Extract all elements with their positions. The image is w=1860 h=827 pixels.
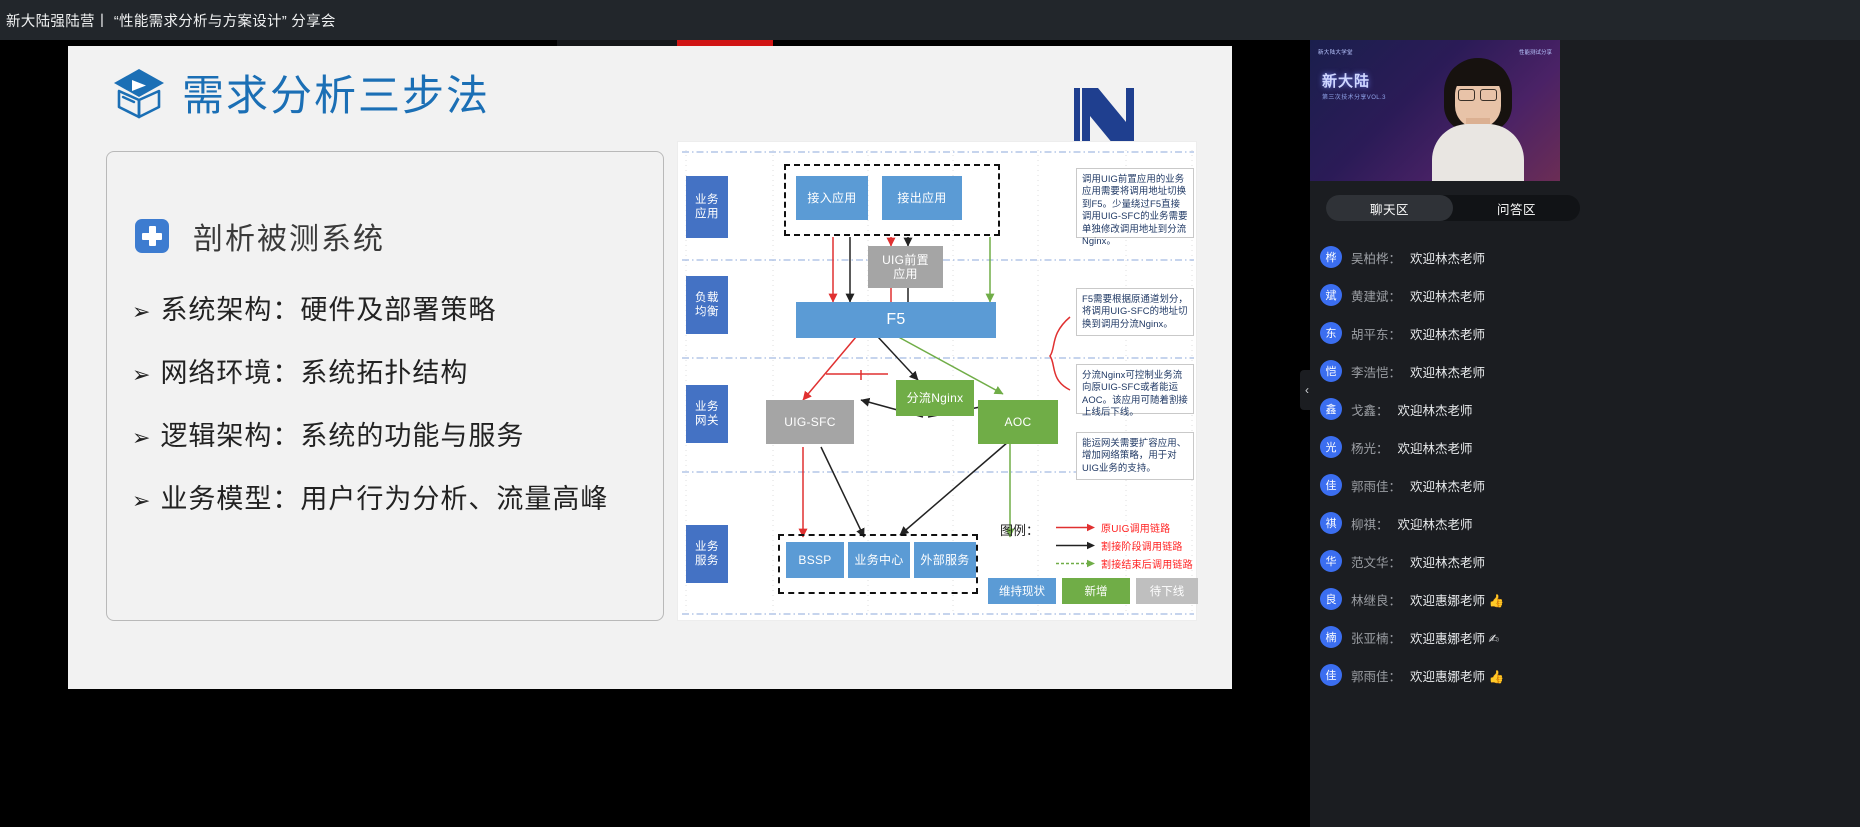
content-panel: 剖析被测系统 ➢ 系统架构：硬件及部署策略 ➢ 网络环境：系统拓扑结构 ➢ 逻辑… [106, 151, 664, 621]
legend-line-green-icon [1056, 559, 1096, 568]
annotation-4: 能运网关需要扩容应用、增加网络策略，用于对UIG业务的支持。 [1076, 432, 1194, 480]
list-item: ➢ 逻辑架构：系统的功能与服务 [132, 414, 663, 453]
lane-label-business-app: 业务应用 [686, 176, 728, 238]
legend-chip-keep: 维持现状 [988, 578, 1056, 604]
book-play-icon [112, 67, 166, 119]
lane-label-service: 业务服务 [686, 525, 728, 583]
list-item: 恺 李浩恺： 欢迎林杰老师 [1320, 352, 1590, 390]
presenter-video-tile[interactable]: 新大陆大学堂 性能测试分享 新大陆 第三次技术分享VOL.3 [1310, 40, 1560, 181]
node-f5: F5 [796, 302, 996, 338]
legend-row-cutover: 割接阶段调用链路 [1056, 538, 1183, 553]
bullet-text: 系统架构：硬件及部署策略 [160, 288, 496, 327]
tab-chat[interactable]: 聊天区 [1326, 195, 1453, 221]
bullet-text: 网络环境：系统拓扑结构 [160, 351, 468, 390]
list-item: 祺 柳祺： 欢迎林杰老师 [1320, 504, 1590, 542]
chat-sender: 范文华： [1351, 552, 1401, 571]
bullet-list: ➢ 系统架构：硬件及部署策略 ➢ 网络环境：系统拓扑结构 ➢ 逻辑架构：系统的功… [132, 288, 663, 516]
chat-text: 欢迎惠娜老师 ✍ [1410, 628, 1499, 647]
chat-text: 欢迎林杰老师 [1410, 248, 1485, 267]
annotation-1: 调用UIG前置应用的业务应用需要将调用地址切换到F5。少量绕过F5直接调用UIG… [1076, 168, 1194, 238]
legend-title: 图例： [1000, 520, 1039, 539]
tab-qa[interactable]: 问答区 [1453, 195, 1580, 221]
legend-line-black-icon [1056, 541, 1096, 550]
chat-sender: 柳祺： [1351, 514, 1389, 533]
panel-heading: 剖析被测系统 [193, 214, 385, 258]
collapse-sidebar-button[interactable]: ‹ [1300, 370, 1314, 410]
chat-sender: 黄建斌： [1351, 286, 1401, 305]
avatar: 良 [1320, 588, 1342, 610]
panel-heading-row: 剖析被测系统 [135, 214, 663, 258]
presenter-avatar-image [1430, 58, 1526, 181]
chat-text: 欢迎林杰老师 [1410, 362, 1485, 381]
sidebar-tabs: 聊天区 问答区 [1326, 195, 1580, 221]
chat-text: 欢迎林杰老师 [1398, 438, 1473, 457]
video-overlay-subtitle: 第三次技术分享VOL.3 [1322, 92, 1386, 101]
legend-line-red-icon [1056, 523, 1096, 532]
avatar: 华 [1320, 550, 1342, 572]
chat-text: 欢迎林杰老师 [1398, 514, 1473, 533]
chat-message-list[interactable]: 桦 吴柏桦： 欢迎林杰老师 斌 黄建斌： 欢迎林杰老师 东 胡平东： 欢迎林杰老… [1320, 238, 1590, 694]
bullet-text: 业务模型：用户行为分析、流量高峰 [160, 477, 608, 516]
meeting-sidebar: ‹ 新大陆大学堂 性能测试分享 新大陆 第三次技术分享VOL.3 聊天区 问答区 [1310, 40, 1860, 827]
list-item: ➢ 网络环境：系统拓扑结构 [132, 351, 663, 390]
chat-sender: 杨光： [1351, 438, 1389, 457]
list-item: 华 范文华： 欢迎林杰老师 [1320, 542, 1590, 580]
window-titlebar: 新大陆强陆营丨 “性能需求分析与方案设计” 分享会 [0, 0, 1860, 40]
legend-row-after: 割接结束后调用链路 [1056, 556, 1193, 571]
chat-sender: 吴柏桦： [1351, 248, 1401, 267]
video-badge-right: 性能测试分享 [1519, 48, 1552, 56]
window-title: 新大陆强陆营丨 “性能需求分析与方案设计” 分享会 [0, 10, 336, 31]
list-item: 斌 黄建斌： 欢迎林杰老师 [1320, 276, 1590, 314]
node-aoc: AOC [978, 400, 1058, 444]
chat-sender: 戈鑫： [1351, 400, 1389, 419]
chat-sender: 林继良： [1351, 590, 1401, 609]
node-nginx: 分流Nginx [896, 380, 974, 416]
video-badge-left: 新大陆大学堂 [1318, 48, 1353, 56]
list-item: ➢ 系统架构：硬件及部署策略 [132, 288, 663, 327]
list-item: 佳 郭雨佳： 欢迎惠娜老师 👍 [1320, 656, 1590, 694]
bullet-text: 逻辑架构：系统的功能与服务 [160, 414, 524, 453]
chat-sender: 郭雨佳： [1351, 666, 1401, 685]
legend-chip-retire: 待下线 [1136, 578, 1198, 604]
avatar: 斌 [1320, 284, 1342, 306]
node-biz-center: 业务中心 [848, 542, 910, 578]
legend-row-original: 原UIG调用链路 [1056, 520, 1170, 535]
list-item: ➢ 业务模型：用户行为分析、流量高峰 [132, 477, 663, 516]
avatar: 恺 [1320, 360, 1342, 382]
chat-text: 欢迎林杰老师 [1410, 552, 1485, 571]
node-egress-app: 接出应用 [882, 176, 962, 220]
node-uig-sfc: UIG-SFC [766, 400, 854, 444]
avatar: 祺 [1320, 512, 1342, 534]
avatar: 桦 [1320, 246, 1342, 268]
chat-text: 欢迎惠娜老师 👍 [1410, 666, 1504, 685]
list-item: 鑫 戈鑫： 欢迎林杰老师 [1320, 390, 1590, 428]
node-bssp: BSSP [786, 542, 844, 578]
arrow-bullet-icon: ➢ [132, 427, 150, 449]
list-item: 东 胡平东： 欢迎林杰老师 [1320, 314, 1590, 352]
avatar: 楠 [1320, 626, 1342, 648]
chat-text: 欢迎林杰老师 [1398, 400, 1473, 419]
annotation-2: F5需要根据原通道划分，将调用UIG-SFC的地址切换到调用分流Nginx。 [1076, 288, 1194, 336]
list-item: 良 林继良： 欢迎惠娜老师 👍 [1320, 580, 1590, 618]
annotation-3: 分流Nginx可控制业务流向原UIG-SFC或者能运AOC。该应用可随着割接上线… [1076, 364, 1194, 414]
slide-title: 需求分析三步法 [182, 62, 490, 123]
video-overlay-title: 新大陆 [1322, 70, 1370, 91]
node-access-app: 接入应用 [796, 176, 868, 220]
legend-chip-new: 新增 [1062, 578, 1130, 604]
app-root: 新大陆强陆营丨 “性能需求分析与方案设计” 分享会 需求分析三步法 [0, 0, 1860, 827]
node-external-service: 外部服务 [914, 542, 976, 578]
plus-icon [135, 219, 169, 253]
list-item: 佳 郭雨佳： 欢迎林杰老师 [1320, 466, 1590, 504]
architecture-diagram: 业务应用 负载均衡 业务网关 业务服务 接入应用 接出应用 [677, 141, 1197, 621]
chat-sender: 张亚楠： [1351, 628, 1401, 647]
lane-label-load-balance: 负载均衡 [686, 276, 728, 334]
chat-text: 欢迎林杰老师 [1410, 476, 1485, 495]
chat-sender: 郭雨佳： [1351, 476, 1401, 495]
chat-text: 欢迎惠娜老师 👍 [1410, 590, 1504, 609]
chat-sender: 李浩恺： [1351, 362, 1401, 381]
avatar: 东 [1320, 322, 1342, 344]
node-uig-front-app: UIG前置 应用 [868, 246, 943, 288]
avatar: 佳 [1320, 664, 1342, 686]
slide-title-row: 需求分析三步法 [112, 62, 490, 123]
arrow-bullet-icon: ➢ [132, 364, 150, 386]
avatar: 光 [1320, 436, 1342, 458]
chat-text: 欢迎林杰老师 [1410, 286, 1485, 305]
avatar: 鑫 [1320, 398, 1342, 420]
arrow-bullet-icon: ➢ [132, 490, 150, 512]
list-item: 光 杨光： 欢迎林杰老师 [1320, 428, 1590, 466]
list-item: 桦 吴柏桦： 欢迎林杰老师 [1320, 238, 1590, 276]
chat-sender: 胡平东： [1351, 324, 1401, 343]
list-item: 楠 张亚楠： 欢迎惠娜老师 ✍ [1320, 618, 1590, 656]
arrow-bullet-icon: ➢ [132, 301, 150, 323]
chat-text: 欢迎林杰老师 [1410, 324, 1485, 343]
lane-label-gateway: 业务网关 [686, 385, 728, 443]
slide-canvas: 需求分析三步法 新大陆大学堂 NEWLAND SCHOOL [68, 46, 1232, 689]
avatar: 佳 [1320, 474, 1342, 496]
